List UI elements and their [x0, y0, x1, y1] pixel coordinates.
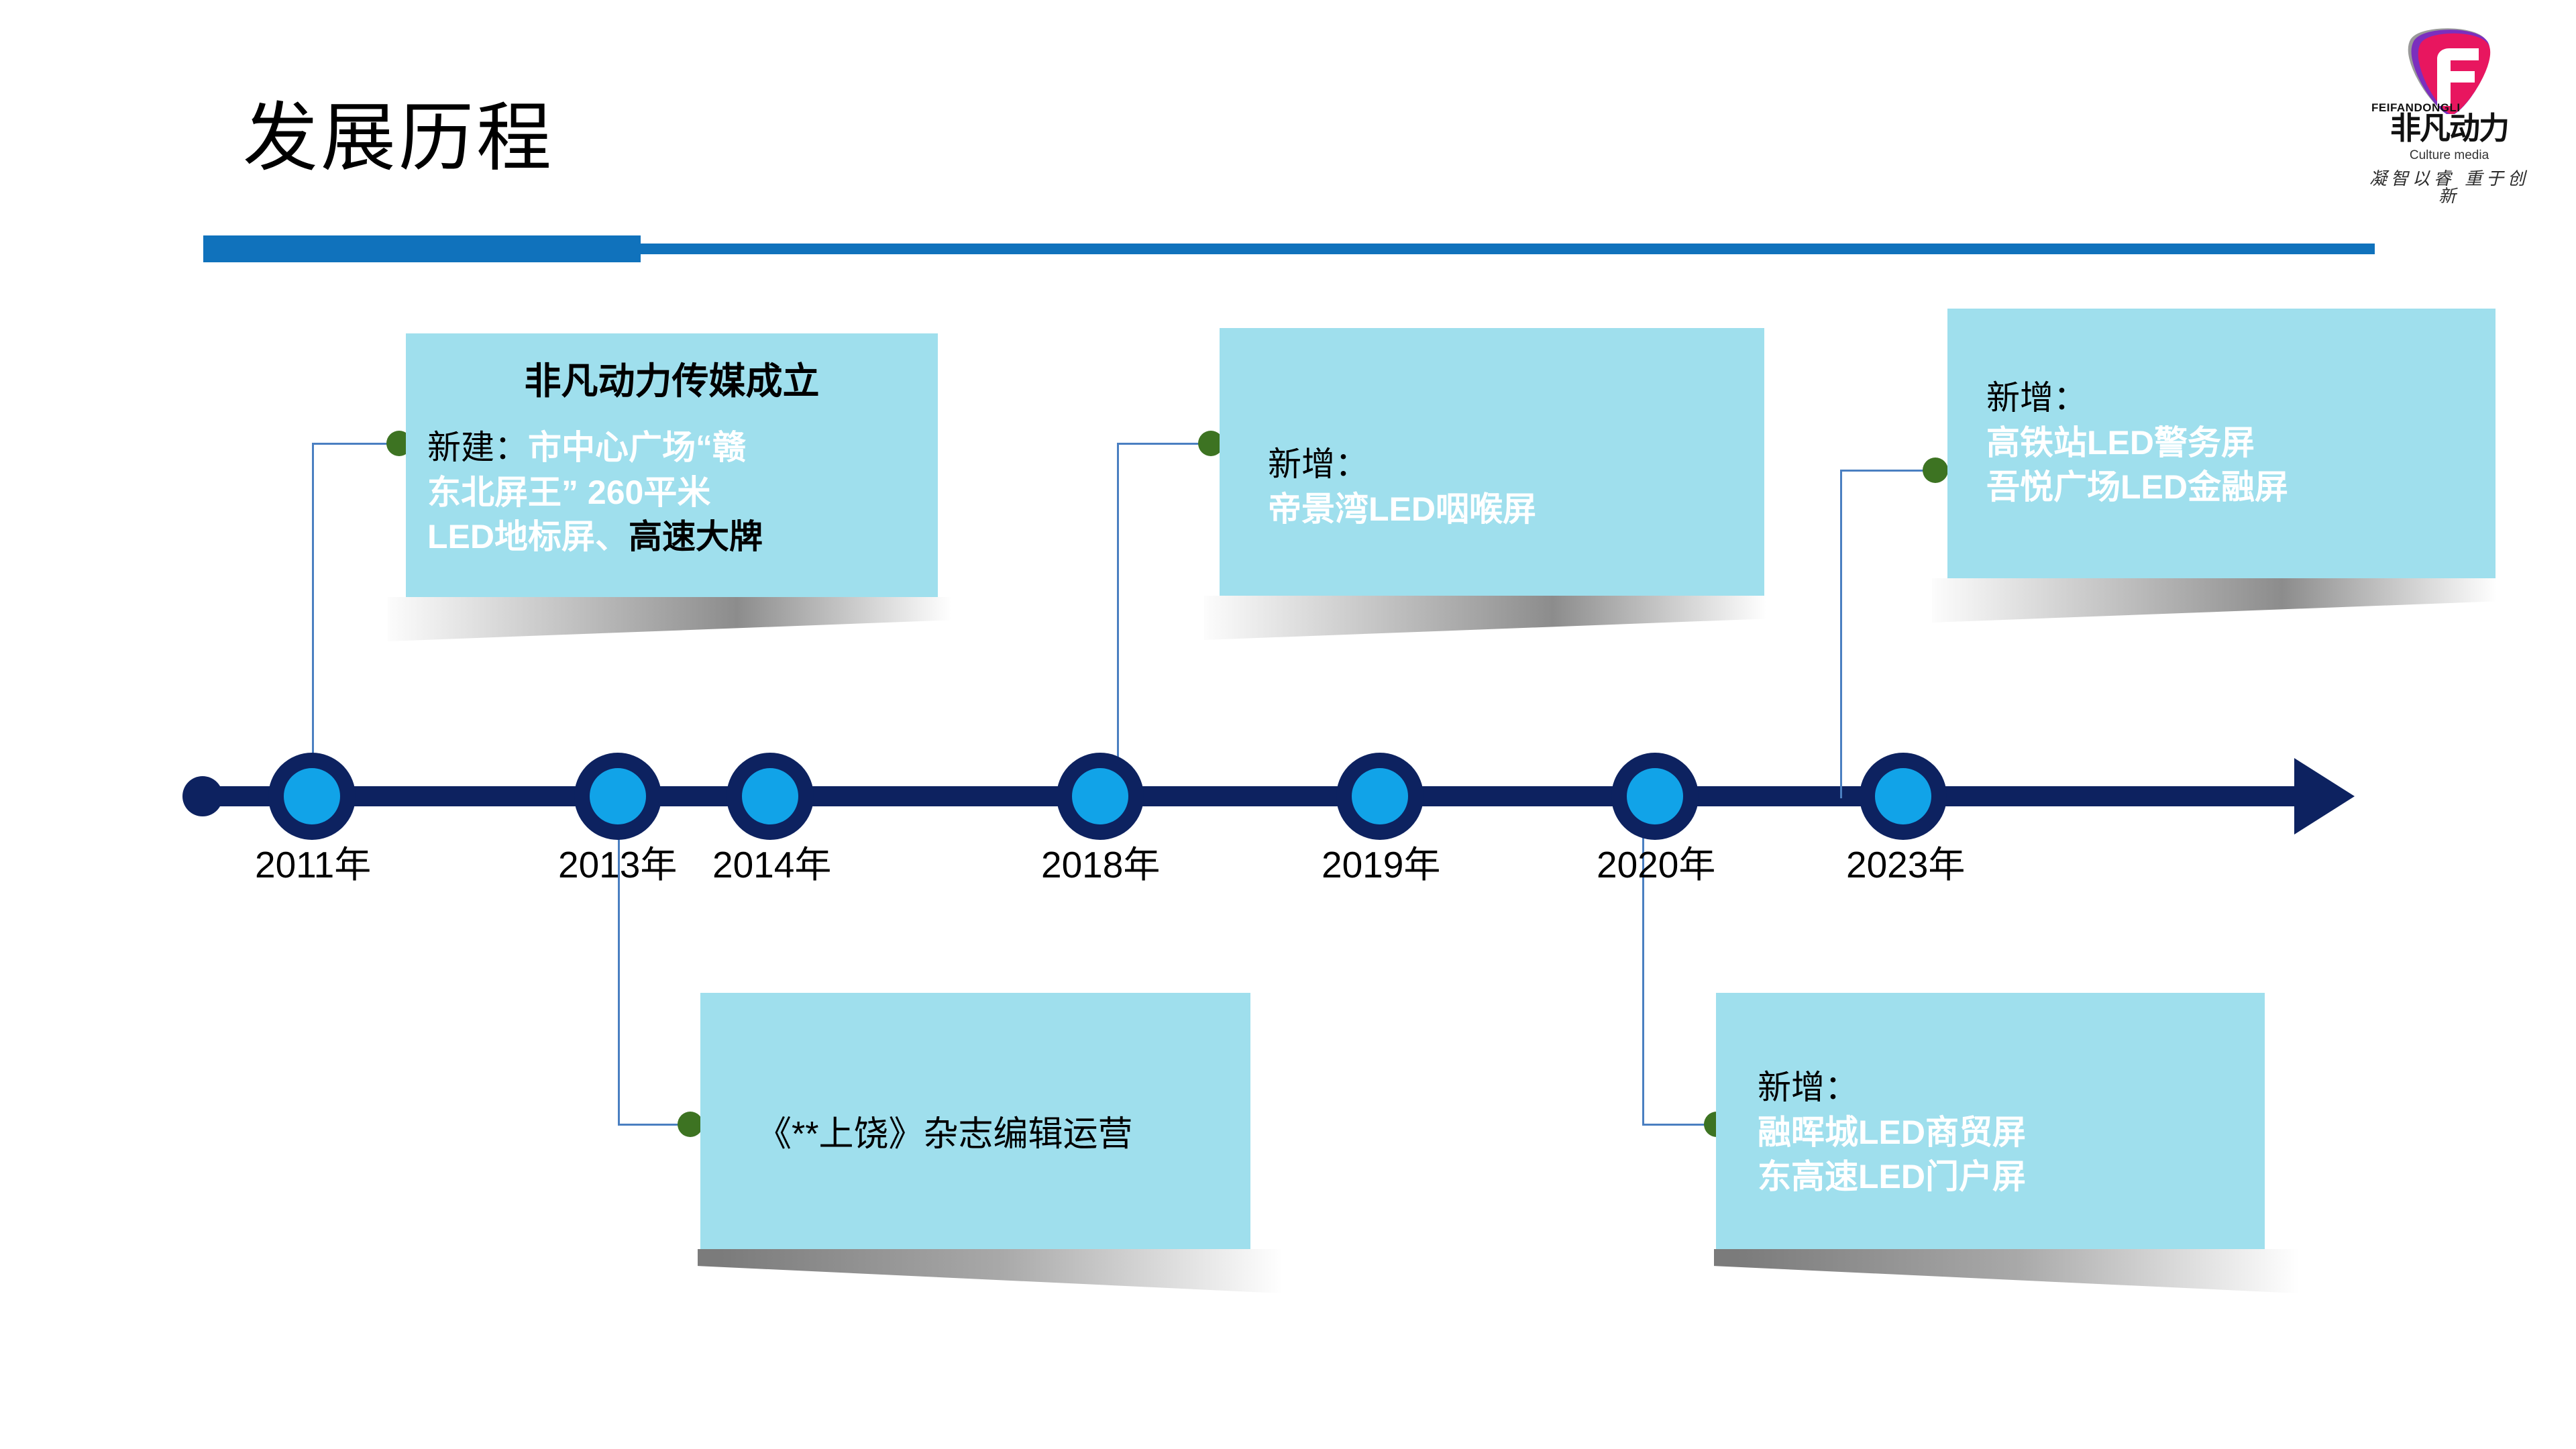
card-2018-hl-1: 帝景湾LED咽喉屏 — [1268, 490, 1536, 528]
logo-subtitle: Culture media — [2362, 149, 2536, 162]
timeline-year-2023: 2023年 — [1846, 847, 1965, 883]
title-accent-line — [203, 244, 2375, 254]
timeline-axis — [199, 786, 2318, 806]
card-2020-lead: 新增： — [1758, 1069, 1858, 1106]
timeline-year-2018: 2018年 — [1041, 847, 1160, 883]
card-2023-hl-1: 高铁站LED警务屏 — [1986, 424, 2255, 462]
card-2023[interactable]: 新增： 高铁站LED警务屏 吾悦广场LED金融屏 — [1947, 309, 2495, 578]
card-shadow-2011 — [388, 597, 951, 641]
card-2020-body: 新增： 融晖城LED商贸屏 东高速LED门户屏 — [1758, 1065, 2254, 1199]
timeline-node-2013[interactable] — [574, 753, 661, 840]
card-shadow-2023 — [1932, 578, 2497, 623]
card-shadow-2018 — [1204, 596, 1766, 640]
card-2023-hl-2: 吾悦广场LED金融屏 — [1986, 468, 2288, 506]
card-2023-body: 新增： 高铁站LED警务屏 吾悦广场LED金融屏 — [1986, 376, 2483, 510]
card-2011-tail: 高速大牌 — [629, 518, 763, 555]
card-2018-body: 新增： 帝景湾LED咽喉屏 — [1268, 442, 1751, 531]
card-2020[interactable]: 新增： 融晖城LED商贸屏 东高速LED门户屏 — [1716, 993, 2265, 1249]
timeline-year-2011: 2011年 — [255, 847, 371, 883]
logo-tagline: 凝智以睿 重于创新 — [2362, 170, 2536, 205]
card-2020-hl-2: 东高速LED门户屏 — [1758, 1158, 2026, 1195]
card-shadow-2020 — [1714, 1249, 2299, 1293]
card-2011[interactable]: 非凡动力传媒成立 新建：市中心广场“赣 东北屏王” 260平米 LED地标屏、高… — [406, 333, 938, 597]
timeline-node-2019[interactable] — [1336, 753, 1424, 840]
timeline-year-2014: 2014年 — [712, 847, 831, 883]
timeline-arrow-icon — [2294, 758, 2355, 835]
slide-canvas: 发展历程 FEIFANDONGLI 非凡动力 Culture media 凝智以… — [0, 0, 2576, 1449]
card-2023-lead: 新增： — [1986, 379, 2087, 417]
card-2013[interactable]: 《**上饶》杂志编辑运营 — [700, 993, 1250, 1249]
card-2011-hl-2: 东北屏王” 260平米 — [427, 474, 710, 511]
card-2011-body: 新建：市中心广场“赣 东北屏王” 260平米 LED地标屏、高速大牌 — [427, 425, 924, 559]
logo-name-cn: 非凡动力 — [2362, 113, 2536, 144]
timeline-node-2011[interactable] — [268, 753, 356, 840]
page-title: 发展历程 — [243, 101, 554, 176]
card-2011-title: 非凡动力传媒成立 — [406, 360, 938, 402]
timeline-node-2023[interactable] — [1860, 753, 1947, 840]
card-2011-lead: 新建： — [427, 429, 528, 466]
timeline-year-2013: 2013年 — [558, 847, 677, 883]
card-2020-hl-1: 融晖城LED商贸屏 — [1758, 1114, 2026, 1151]
card-2011-hl-3: LED地标屏、 — [427, 518, 629, 555]
timeline-node-2020[interactable] — [1611, 753, 1699, 840]
card-2018[interactable]: 新增： 帝景湾LED咽喉屏 — [1220, 328, 1764, 596]
timeline-node-2018[interactable] — [1057, 753, 1144, 840]
card-2011-hl-1: 市中心广场“赣 — [528, 429, 746, 466]
timeline-node-2014[interactable] — [727, 753, 814, 840]
timeline-year-2019: 2019年 — [1322, 847, 1440, 883]
company-logo: FEIFANDONGLI 非凡动力 Culture media 凝智以睿 重于创… — [2362, 27, 2536, 221]
card-2018-lead: 新增： — [1268, 445, 1368, 483]
timeline-year-2020: 2020年 — [1597, 847, 1715, 883]
card-2013-body: 《**上饶》杂志编辑运营 — [757, 1112, 1250, 1158]
card-shadow-2013 — [698, 1249, 1283, 1293]
